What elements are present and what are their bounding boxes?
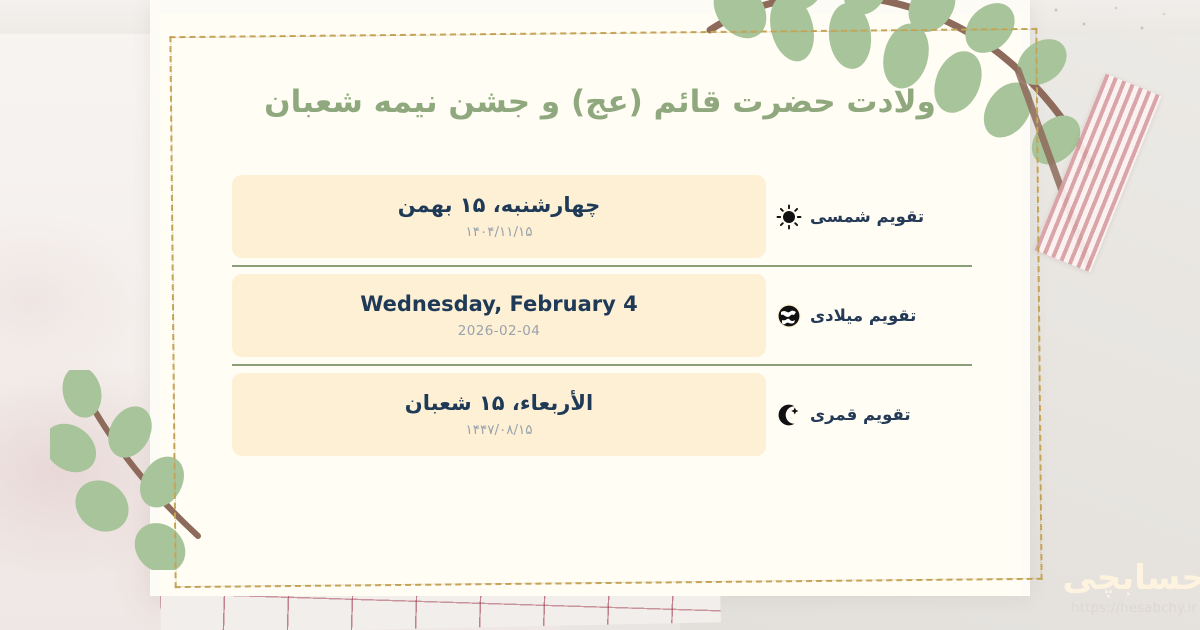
- calendar-label-gregorian: تقویم میلادی: [776, 303, 972, 329]
- calendar-label-text-gregorian: تقویم میلادی: [810, 306, 916, 325]
- calendar-label-text-hijri: تقویم قمری: [810, 405, 911, 424]
- date-main-solar: چهارشنبه، ۱۵ بهمن: [398, 193, 600, 217]
- date-main-gregorian: Wednesday, February 4: [360, 292, 638, 316]
- calendar-row-hijri: تقویم قمری الأربعاء، ۱۵ شعبان ۱۴۴۷/۰۸/۱۵: [232, 366, 972, 463]
- globe-icon: [776, 303, 802, 329]
- crescent-moon-star-icon: [776, 402, 802, 428]
- brand-url-text: https://hesabchy.ir: [1062, 601, 1200, 616]
- poster-canvas: ولادت حضرت قائم (عج) و جشن نیمه شعبان: [0, 0, 1200, 630]
- calendar-label-hijri: تقویم قمری: [776, 402, 972, 428]
- date-chip-hijri: الأربعاء، ۱۵ شعبان ۱۴۴۷/۰۸/۱۵: [232, 373, 766, 456]
- watermark: حسابچی https://hesabchy.ir: [1062, 561, 1200, 616]
- sun-icon: [776, 204, 802, 230]
- date-chip-solar: چهارشنبه، ۱۵ بهمن ۱۴۰۴/۱۱/۱۵: [232, 175, 766, 258]
- page-title: ولادت حضرت قائم (عج) و جشن نیمه شعبان: [0, 84, 1200, 120]
- date-main-hijri: الأربعاء، ۱۵ شعبان: [405, 391, 593, 415]
- brand-logo-text: حسابچی: [1062, 561, 1200, 595]
- date-numeric-gregorian: 2026-02-04: [458, 323, 540, 339]
- calendar-row-gregorian: تقویم میلادی Wednesday, February 4 2026-…: [232, 267, 972, 364]
- calendar-row-solar: تقویم شمسی چهارشنبه، ۱۵ بهمن ۱۴۰۴/۱۱/۱۵: [232, 168, 972, 265]
- calendar-rows: تقویم شمسی چهارشنبه، ۱۵ بهمن ۱۴۰۴/۱۱/۱۵: [232, 168, 972, 463]
- date-numeric-solar: ۱۴۰۴/۱۱/۱۵: [465, 224, 532, 240]
- date-chip-gregorian: Wednesday, February 4 2026-02-04: [232, 274, 766, 357]
- calendar-label-solar: تقویم شمسی: [776, 204, 972, 230]
- speckle-texture: [1046, 2, 1176, 42]
- date-numeric-hijri: ۱۴۴۷/۰۸/۱۵: [465, 422, 532, 438]
- calendar-label-text-solar: تقویم شمسی: [810, 207, 924, 226]
